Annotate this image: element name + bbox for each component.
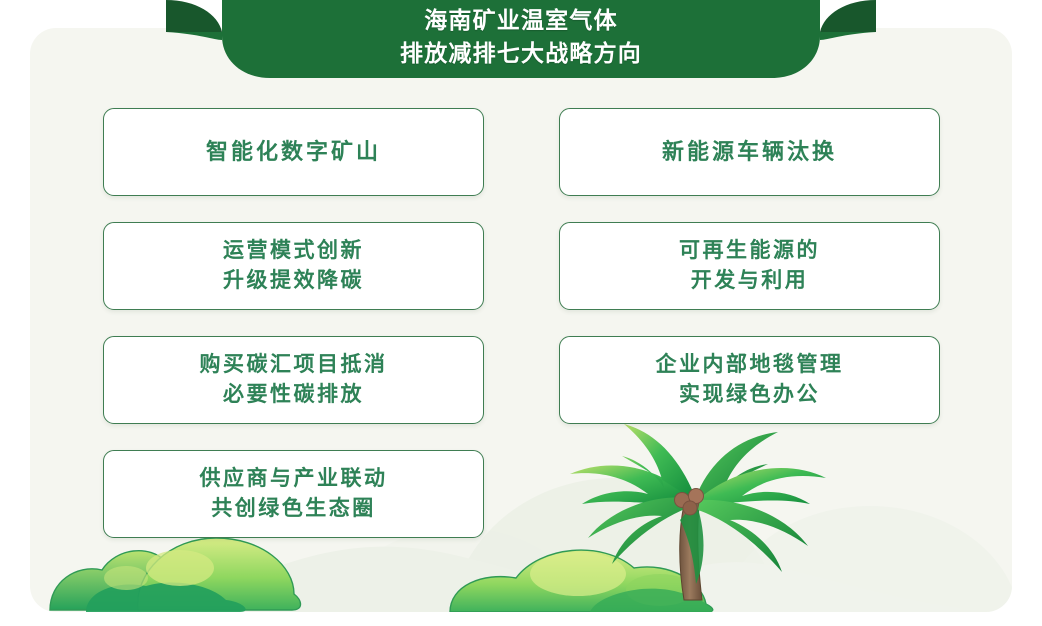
ribbon-title-text: 海南矿业温室气体 排放减排七大战略方向 (0, 4, 1042, 71)
card-row-1: 智能化数字矿山 新能源车辆汰换 (103, 108, 941, 196)
card-line: 开发与利用 (691, 266, 809, 296)
card-line: 运营模式创新 (223, 236, 364, 266)
card-line: 可再生能源的 (679, 236, 820, 266)
strategy-card-grid: 智能化数字矿山 新能源车辆汰换 运营模式创新 升级提效降碳 可再生能源的 开发与… (103, 108, 941, 564)
card-line: 购买碳汇项目抵消 (200, 350, 388, 380)
card-line: 必要性碳排放 (223, 380, 364, 410)
card-renewable-energy[interactable]: 可再生能源的 开发与利用 (559, 222, 940, 310)
title-line-1: 海南矿业温室气体 (0, 4, 1042, 37)
card-line: 供应商与产业联动 (200, 464, 388, 494)
title-line-2: 排放减排七大战略方向 (0, 37, 1042, 70)
content-panel: 智能化数字矿山 新能源车辆汰换 运营模式创新 升级提效降碳 可再生能源的 开发与… (30, 28, 1012, 612)
card-operating-model[interactable]: 运营模式创新 升级提效降碳 (103, 222, 484, 310)
card-line: 实现绿色办公 (679, 380, 820, 410)
card-line: 企业内部地毯管理 (656, 350, 844, 380)
card-row-4: 供应商与产业联动 共创绿色生态圈 (103, 450, 941, 538)
card-line: 升级提效降碳 (223, 266, 364, 296)
card-supplier-industry-link[interactable]: 供应商与产业联动 共创绿色生态圈 (103, 450, 484, 538)
card-internal-carpet-mgmt[interactable]: 企业内部地毯管理 实现绿色办公 (559, 336, 940, 424)
card-line: 共创绿色生态圈 (211, 494, 376, 524)
card-smart-digital-mine[interactable]: 智能化数字矿山 (103, 108, 484, 196)
card-row-2: 运营模式创新 升级提效降碳 可再生能源的 开发与利用 (103, 222, 941, 310)
card-carbon-sink-offset[interactable]: 购买碳汇项目抵消 必要性碳排放 (103, 336, 484, 424)
infographic-canvas: 智能化数字矿山 新能源车辆汰换 运营模式创新 升级提效降碳 可再生能源的 开发与… (0, 0, 1042, 626)
card-row-3: 购买碳汇项目抵消 必要性碳排放 企业内部地毯管理 实现绿色办公 (103, 336, 941, 424)
card-line: 智能化数字矿山 (206, 136, 381, 167)
card-line: 新能源车辆汰换 (662, 136, 837, 167)
card-new-energy-vehicles[interactable]: 新能源车辆汰换 (559, 108, 940, 196)
